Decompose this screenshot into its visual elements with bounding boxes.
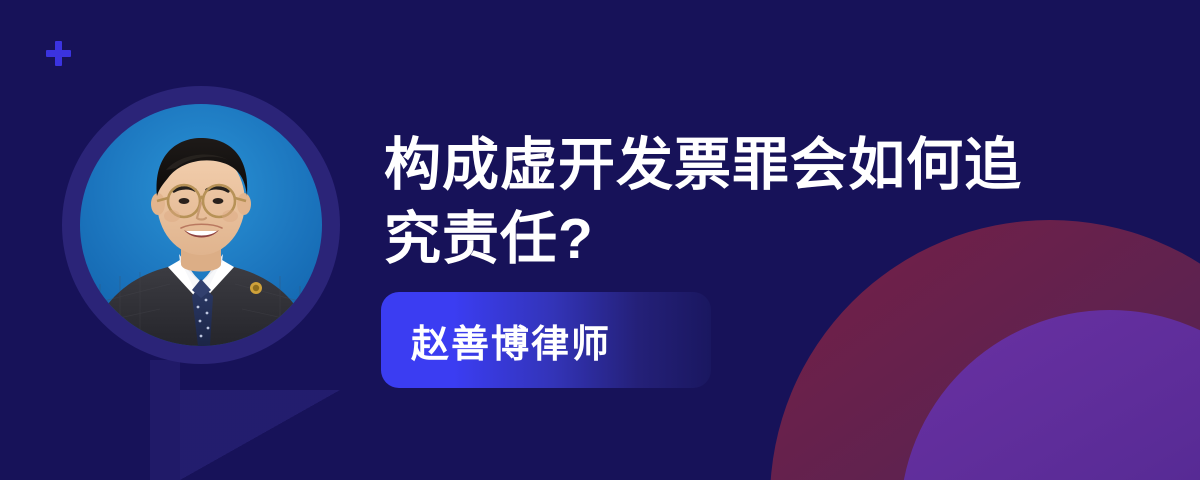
triangle-decoration (180, 390, 340, 480)
page-title: 构成虚开发票罪会如何追 究责任? (384, 128, 1084, 276)
plus-icon (46, 41, 71, 66)
banner-card: 构成虚开发票罪会如何追 究责任? 赵善博律师 (0, 0, 1200, 480)
name-badge-label: 赵善博律师 (411, 292, 611, 388)
name-badge[interactable]: 赵善博律师 (381, 292, 711, 388)
avatar (80, 104, 322, 346)
vertical-band-decoration (150, 360, 180, 480)
purple-arc-decoration (900, 310, 1200, 480)
